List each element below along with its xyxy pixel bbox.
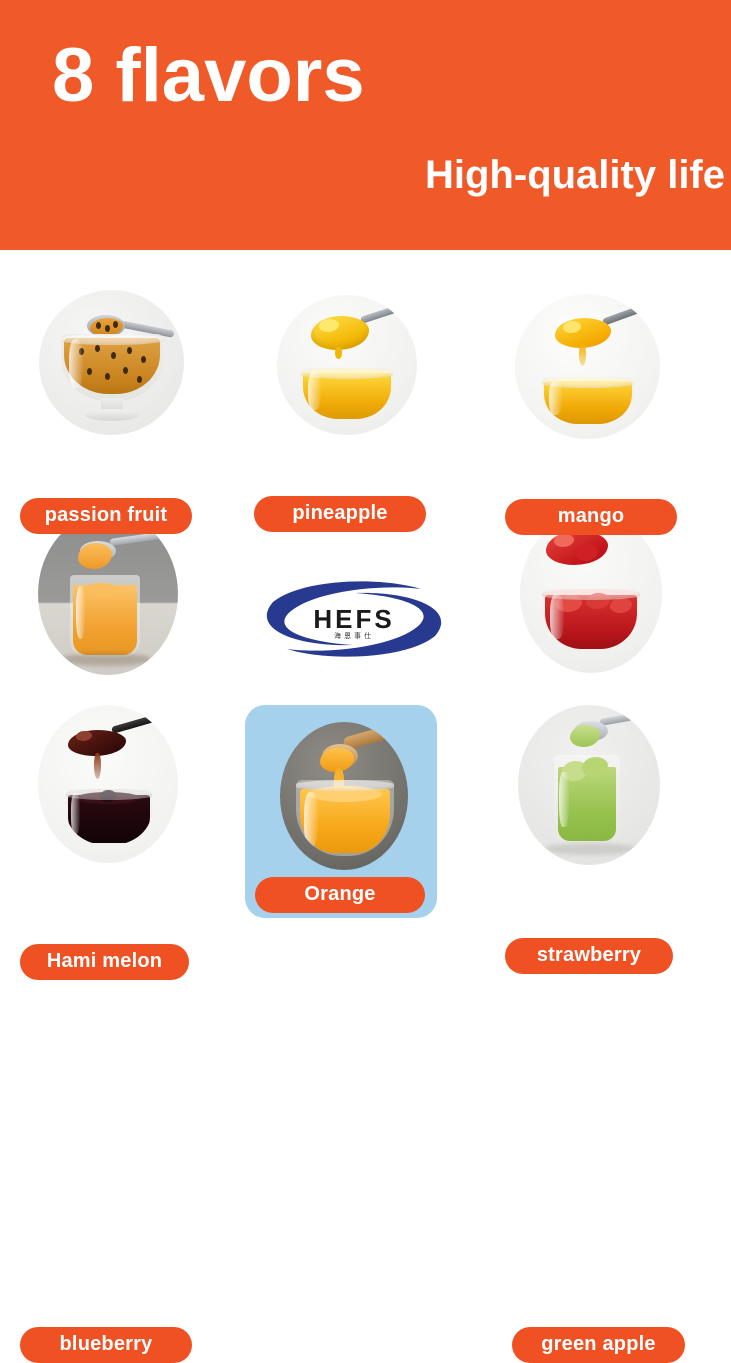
spoon-handle: [360, 302, 408, 323]
spoon-handle: [599, 710, 651, 726]
page-title: 8 flavors: [52, 38, 365, 114]
flavor-label-orange[interactable]: Orange: [255, 877, 425, 913]
flavor-label-pineapple[interactable]: pineapple: [254, 496, 426, 532]
drinking-glass: [70, 575, 140, 657]
flavor-label-hami-melon[interactable]: Hami melon: [20, 944, 189, 980]
orange-jam-photo: [280, 722, 408, 870]
jam-on-spoon: [78, 543, 112, 569]
passion-fruit-jam-photo: [39, 290, 184, 435]
glass-bowl: [296, 780, 394, 856]
pineapple-jam-photo: [277, 295, 417, 435]
hefs-logo: HEFS 海恩事仕: [261, 580, 447, 658]
flavor-grid: passion fruit pineapple: [0, 250, 731, 1024]
glass-bowl: [301, 368, 393, 420]
hami-melon-jam-photo: [38, 513, 178, 675]
flavor-label-passion-fruit[interactable]: passion fruit: [20, 498, 192, 534]
flavor-label-blueberry[interactable]: blueberry: [20, 1327, 192, 1363]
mango-jam-photo: [515, 294, 660, 439]
jam-on-spoon: [570, 725, 600, 747]
blueberry-jam-photo: [38, 705, 178, 863]
glass-bowl: [542, 377, 634, 425]
hefs-logo-subtext: 海恩事仕: [261, 631, 447, 641]
green-apple-jam-photo: [518, 705, 660, 865]
page-subtitle: High-quality life: [425, 155, 725, 195]
spoon-handle: [111, 714, 157, 733]
spoon-handle: [602, 303, 649, 326]
header-banner: 8 flavors High-quality life: [0, 0, 731, 250]
glass-bowl: [66, 789, 152, 845]
flavor-label-strawberry[interactable]: strawberry: [505, 938, 673, 974]
flavor-label-green-apple[interactable]: green apple: [512, 1327, 685, 1363]
glass-bowl: [542, 589, 640, 651]
drinking-glass: [554, 755, 620, 847]
glass-bowl: [61, 334, 163, 401]
jam-on-spoon: [311, 316, 369, 350]
strawberry-jam-photo: [520, 513, 662, 673]
flavor-label-mango[interactable]: mango: [505, 499, 677, 535]
